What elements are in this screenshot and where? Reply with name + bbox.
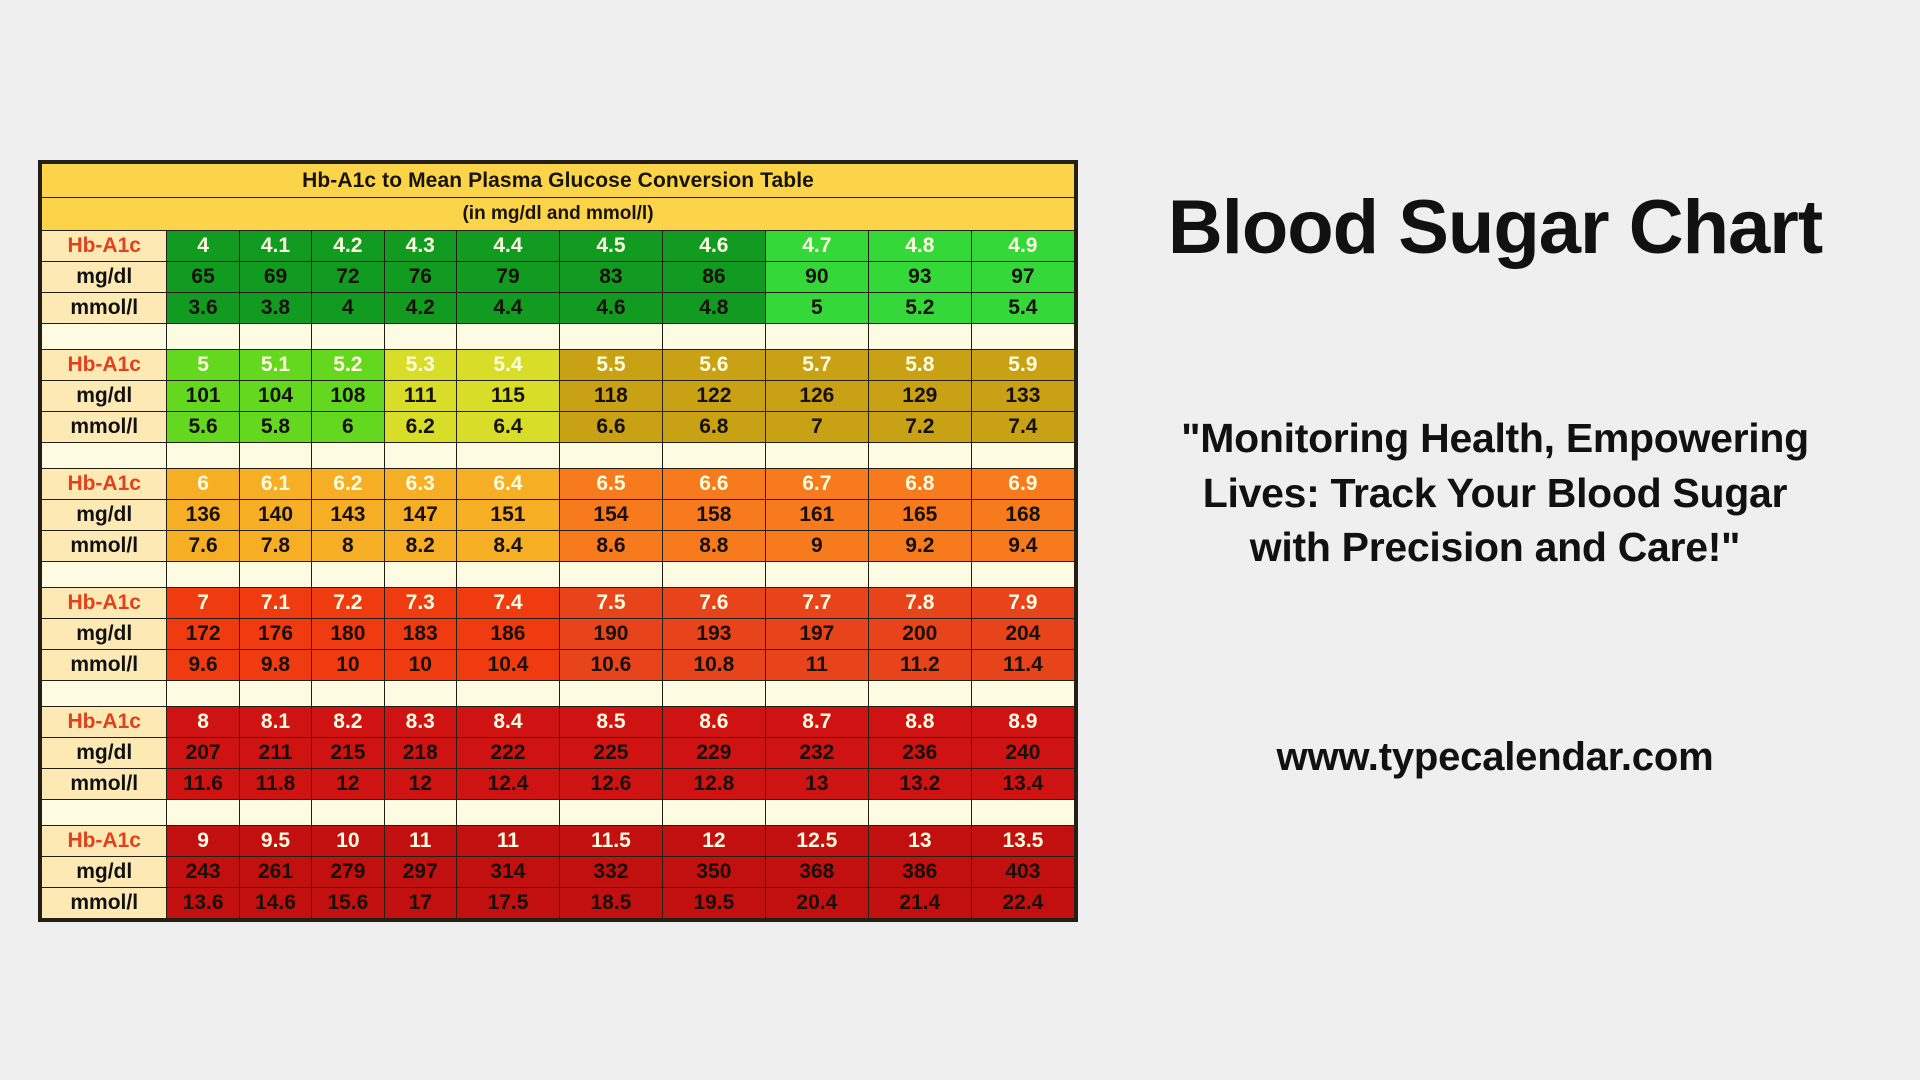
table-subtitle-row: (in mg/dl and mmol/l) xyxy=(42,198,1075,231)
cell-hba1c-b6-c7: 12 xyxy=(662,826,765,857)
spacer-cell xyxy=(868,562,971,588)
cell-hba1c-b1-c3: 4.2 xyxy=(312,231,384,262)
table-spacer-row xyxy=(42,562,1075,588)
cell-mmoll-b5-c9: 13.2 xyxy=(868,769,971,800)
spacer-cell xyxy=(662,562,765,588)
cell-hba1c-b2-c3: 5.2 xyxy=(312,350,384,381)
cell-hba1c-b6-c5: 11 xyxy=(456,826,559,857)
row-label-mgdl: mg/dl xyxy=(42,738,167,769)
cell-hba1c-b5-c10: 8.9 xyxy=(971,707,1074,738)
cell-mgdl-b1-c4: 76 xyxy=(384,262,456,293)
row-label-mmoll: mmol/l xyxy=(42,293,167,324)
cell-hba1c-b1-c6: 4.5 xyxy=(559,231,662,262)
cell-mgdl-b3-c8: 161 xyxy=(765,500,868,531)
cell-mmoll-b1-c4: 4.2 xyxy=(384,293,456,324)
cell-mgdl-b1-c2: 69 xyxy=(239,262,311,293)
cell-mmoll-b2-c10: 7.4 xyxy=(971,412,1074,443)
table-subtitle: (in mg/dl and mmol/l) xyxy=(42,198,1075,231)
row-label-hba1c: Hb-A1c xyxy=(42,588,167,619)
spacer-cell xyxy=(167,681,239,707)
cell-hba1c-b5-c7: 8.6 xyxy=(662,707,765,738)
cell-mgdl-b2-c5: 115 xyxy=(456,381,559,412)
cell-mgdl-b1-c9: 93 xyxy=(868,262,971,293)
cell-hba1c-b3-c3: 6.2 xyxy=(312,469,384,500)
spacer-cell xyxy=(384,324,456,350)
cell-hba1c-b1-c4: 4.3 xyxy=(384,231,456,262)
cell-mgdl-b6-c6: 332 xyxy=(559,857,662,888)
cell-hba1c-b6-c1: 9 xyxy=(167,826,239,857)
spacer-cell xyxy=(765,324,868,350)
cell-mgdl-b1-c7: 86 xyxy=(662,262,765,293)
cell-mmoll-b4-c5: 10.4 xyxy=(456,650,559,681)
spacer-cell xyxy=(456,324,559,350)
cell-hba1c-b3-c10: 6.9 xyxy=(971,469,1074,500)
table-row-mmoll-block5: mmol/l11.611.8121212.412.612.81313.213.4 xyxy=(42,769,1075,800)
cell-mmoll-b2-c3: 6 xyxy=(312,412,384,443)
row-label-hba1c: Hb-A1c xyxy=(42,231,167,262)
spacer-cell xyxy=(384,443,456,469)
cell-mmoll-b1-c7: 4.8 xyxy=(662,293,765,324)
spacer-cell xyxy=(662,800,765,826)
spacer-cell xyxy=(971,681,1074,707)
cell-hba1c-b1-c5: 4.4 xyxy=(456,231,559,262)
cell-mmoll-b2-c6: 6.6 xyxy=(559,412,662,443)
spacer-cell xyxy=(239,681,311,707)
cell-hba1c-b4-c4: 7.3 xyxy=(384,588,456,619)
spacer-cell xyxy=(384,800,456,826)
cell-mmoll-b2-c2: 5.8 xyxy=(239,412,311,443)
cell-mgdl-b5-c9: 236 xyxy=(868,738,971,769)
spacer-cell xyxy=(662,324,765,350)
cell-mgdl-b2-c8: 126 xyxy=(765,381,868,412)
cell-hba1c-b4-c5: 7.4 xyxy=(456,588,559,619)
cell-mgdl-b1-c6: 83 xyxy=(559,262,662,293)
cell-hba1c-b4-c1: 7 xyxy=(167,588,239,619)
cell-mgdl-b6-c10: 403 xyxy=(971,857,1074,888)
cell-hba1c-b1-c8: 4.7 xyxy=(765,231,868,262)
cell-mmoll-b3-c2: 7.8 xyxy=(239,531,311,562)
row-label-mgdl: mg/dl xyxy=(42,500,167,531)
cell-mgdl-b4-c6: 190 xyxy=(559,619,662,650)
cell-mmoll-b5-c10: 13.4 xyxy=(971,769,1074,800)
cell-hba1c-b1-c1: 4 xyxy=(167,231,239,262)
spacer-cell xyxy=(456,800,559,826)
cell-mmoll-b2-c4: 6.2 xyxy=(384,412,456,443)
cell-mgdl-b2-c2: 104 xyxy=(239,381,311,412)
row-label-hba1c: Hb-A1c xyxy=(42,350,167,381)
cell-mmoll-b1-c9: 5.2 xyxy=(868,293,971,324)
cell-mgdl-b5-c4: 218 xyxy=(384,738,456,769)
cell-mgdl-b2-c9: 129 xyxy=(868,381,971,412)
cell-hba1c-b4-c9: 7.8 xyxy=(868,588,971,619)
cell-mmoll-b1-c1: 3.6 xyxy=(167,293,239,324)
cell-mmoll-b4-c7: 10.8 xyxy=(662,650,765,681)
cell-mmoll-b3-c6: 8.6 xyxy=(559,531,662,562)
row-label-mgdl: mg/dl xyxy=(42,619,167,650)
spacer-cell xyxy=(312,443,384,469)
row-label-hba1c: Hb-A1c xyxy=(42,469,167,500)
spacer-cell xyxy=(662,443,765,469)
conversion-table-body: Hb-A1c to Mean Plasma Glucose Conversion… xyxy=(42,164,1075,919)
table-row-mgdl-block3: mg/dl136140143147151154158161165168 xyxy=(42,500,1075,531)
cell-mmoll-b5-c8: 13 xyxy=(765,769,868,800)
spacer-cell xyxy=(167,324,239,350)
cell-hba1c-b3-c4: 6.3 xyxy=(384,469,456,500)
cell-hba1c-b2-c7: 5.6 xyxy=(662,350,765,381)
cell-mmoll-b6-c2: 14.6 xyxy=(239,888,311,919)
spacer-cell xyxy=(239,443,311,469)
table-title-row: Hb-A1c to Mean Plasma Glucose Conversion… xyxy=(42,164,1075,198)
table-title: Hb-A1c to Mean Plasma Glucose Conversion… xyxy=(42,164,1075,198)
cell-hba1c-b3-c7: 6.6 xyxy=(662,469,765,500)
cell-mmoll-b3-c4: 8.2 xyxy=(384,531,456,562)
cell-mgdl-b6-c2: 261 xyxy=(239,857,311,888)
spacer-cell xyxy=(167,800,239,826)
cell-mgdl-b2-c4: 111 xyxy=(384,381,456,412)
table-spacer-row xyxy=(42,324,1075,350)
cell-hba1c-b5-c2: 8.1 xyxy=(239,707,311,738)
cell-mgdl-b6-c8: 368 xyxy=(765,857,868,888)
table-row-mgdl-block4: mg/dl172176180183186190193197200204 xyxy=(42,619,1075,650)
cell-hba1c-b2-c6: 5.5 xyxy=(559,350,662,381)
spacer-cell xyxy=(559,324,662,350)
spacer-cell xyxy=(559,562,662,588)
cell-hba1c-b2-c9: 5.8 xyxy=(868,350,971,381)
cell-hba1c-b2-c4: 5.3 xyxy=(384,350,456,381)
spacer-cell xyxy=(868,324,971,350)
cell-mmoll-b6-c8: 20.4 xyxy=(765,888,868,919)
cell-mmoll-b3-c8: 9 xyxy=(765,531,868,562)
cell-hba1c-b3-c1: 6 xyxy=(167,469,239,500)
cell-mgdl-b4-c2: 176 xyxy=(239,619,311,650)
cell-mgdl-b2-c3: 108 xyxy=(312,381,384,412)
row-label-mgdl: mg/dl xyxy=(42,262,167,293)
cell-hba1c-b3-c9: 6.8 xyxy=(868,469,971,500)
spacer-cell xyxy=(765,443,868,469)
tagline-line-3: with Precision and Care!" xyxy=(1100,520,1890,575)
cell-mmoll-b5-c6: 12.6 xyxy=(559,769,662,800)
tagline-line-2: Lives: Track Your Blood Sugar xyxy=(1100,466,1890,521)
cell-mgdl-b3-c9: 165 xyxy=(868,500,971,531)
cell-mgdl-b2-c7: 122 xyxy=(662,381,765,412)
cell-mgdl-b5-c5: 222 xyxy=(456,738,559,769)
cell-mgdl-b6-c5: 314 xyxy=(456,857,559,888)
tagline-line-1: "Monitoring Health, Empowering xyxy=(1100,411,1890,466)
table-spacer-row xyxy=(42,800,1075,826)
spacer-cell xyxy=(456,681,559,707)
cell-mmoll-b5-c5: 12.4 xyxy=(456,769,559,800)
cell-mmoll-b2-c7: 6.8 xyxy=(662,412,765,443)
spacer-cell xyxy=(312,324,384,350)
cell-hba1c-b2-c1: 5 xyxy=(167,350,239,381)
cell-mmoll-b6-c1: 13.6 xyxy=(167,888,239,919)
cell-mmoll-b6-c7: 19.5 xyxy=(662,888,765,919)
cell-hba1c-b6-c2: 9.5 xyxy=(239,826,311,857)
cell-hba1c-b6-c8: 12.5 xyxy=(765,826,868,857)
cell-mmoll-b1-c8: 5 xyxy=(765,293,868,324)
table-row-mmoll-block1: mmol/l3.63.844.24.44.64.855.25.4 xyxy=(42,293,1075,324)
cell-mgdl-b5-c6: 225 xyxy=(559,738,662,769)
cell-mgdl-b3-c10: 168 xyxy=(971,500,1074,531)
cell-mgdl-b3-c5: 151 xyxy=(456,500,559,531)
table-spacer-row xyxy=(42,443,1075,469)
right-text-panel: Blood Sugar Chart "Monitoring Health, Em… xyxy=(1100,150,1890,780)
table-row-mmoll-block2: mmol/l5.65.866.26.46.66.877.27.4 xyxy=(42,412,1075,443)
table-row-mgdl-block6: mg/dl243261279297314332350368386403 xyxy=(42,857,1075,888)
cell-mgdl-b6-c9: 386 xyxy=(868,857,971,888)
cell-mmoll-b4-c2: 9.8 xyxy=(239,650,311,681)
cell-mgdl-b4-c9: 200 xyxy=(868,619,971,650)
table-row-mmoll-block6: mmol/l13.614.615.61717.518.519.520.421.4… xyxy=(42,888,1075,919)
table-row-hba1c-block2: Hb-A1c55.15.25.35.45.55.65.75.85.9 xyxy=(42,350,1075,381)
page-title: Blood Sugar Chart xyxy=(1100,190,1890,266)
cell-hba1c-b5-c4: 8.3 xyxy=(384,707,456,738)
cell-mmoll-b2-c8: 7 xyxy=(765,412,868,443)
cell-mmoll-b5-c3: 12 xyxy=(312,769,384,800)
spacer-cell xyxy=(384,562,456,588)
cell-mgdl-b5-c7: 229 xyxy=(662,738,765,769)
spacer-cell xyxy=(384,681,456,707)
cell-mmoll-b4-c1: 9.6 xyxy=(167,650,239,681)
row-label-mmoll: mmol/l xyxy=(42,531,167,562)
cell-mmoll-b4-c6: 10.6 xyxy=(559,650,662,681)
website-url: www.typecalendar.com xyxy=(1100,735,1890,780)
cell-hba1c-b5-c8: 8.7 xyxy=(765,707,868,738)
cell-hba1c-b2-c5: 5.4 xyxy=(456,350,559,381)
cell-hba1c-b2-c10: 5.9 xyxy=(971,350,1074,381)
spacer-label-cell xyxy=(42,800,167,826)
row-label-hba1c: Hb-A1c xyxy=(42,707,167,738)
cell-hba1c-b6-c3: 10 xyxy=(312,826,384,857)
spacer-cell xyxy=(868,681,971,707)
row-label-mmoll: mmol/l xyxy=(42,769,167,800)
cell-mmoll-b1-c10: 5.4 xyxy=(971,293,1074,324)
cell-mgdl-b4-c8: 197 xyxy=(765,619,868,650)
cell-hba1c-b2-c2: 5.1 xyxy=(239,350,311,381)
cell-mgdl-b3-c1: 136 xyxy=(167,500,239,531)
cell-mgdl-b4-c1: 172 xyxy=(167,619,239,650)
spacer-cell xyxy=(765,681,868,707)
spacer-cell xyxy=(239,800,311,826)
cell-mmoll-b4-c4: 10 xyxy=(384,650,456,681)
table-row-mgdl-block1: mg/dl65697276798386909397 xyxy=(42,262,1075,293)
spacer-cell xyxy=(868,800,971,826)
cell-hba1c-b3-c6: 6.5 xyxy=(559,469,662,500)
cell-mmoll-b2-c9: 7.2 xyxy=(868,412,971,443)
cell-mgdl-b1-c8: 90 xyxy=(765,262,868,293)
cell-hba1c-b4-c6: 7.5 xyxy=(559,588,662,619)
cell-mmoll-b3-c3: 8 xyxy=(312,531,384,562)
conversion-table-card: Hb-A1c to Mean Plasma Glucose Conversion… xyxy=(38,160,1078,922)
cell-hba1c-b1-c7: 4.6 xyxy=(662,231,765,262)
table-row-mmoll-block4: mmol/l9.69.8101010.410.610.81111.211.4 xyxy=(42,650,1075,681)
cell-mgdl-b3-c3: 143 xyxy=(312,500,384,531)
spacer-label-cell xyxy=(42,562,167,588)
cell-mmoll-b2-c5: 6.4 xyxy=(456,412,559,443)
cell-mgdl-b6-c1: 243 xyxy=(167,857,239,888)
spacer-cell xyxy=(456,443,559,469)
spacer-cell xyxy=(765,800,868,826)
cell-mgdl-b3-c7: 158 xyxy=(662,500,765,531)
cell-mgdl-b1-c3: 72 xyxy=(312,262,384,293)
cell-mmoll-b5-c7: 12.8 xyxy=(662,769,765,800)
cell-hba1c-b5-c9: 8.8 xyxy=(868,707,971,738)
page-root: Hb-A1c to Mean Plasma Glucose Conversion… xyxy=(0,0,1920,1080)
cell-hba1c-b3-c2: 6.1 xyxy=(239,469,311,500)
spacer-label-cell xyxy=(42,443,167,469)
row-label-mgdl: mg/dl xyxy=(42,381,167,412)
cell-mgdl-b6-c4: 297 xyxy=(384,857,456,888)
spacer-cell xyxy=(456,562,559,588)
cell-mgdl-b2-c10: 133 xyxy=(971,381,1074,412)
cell-mgdl-b5-c1: 207 xyxy=(167,738,239,769)
cell-hba1c-b1-c9: 4.8 xyxy=(868,231,971,262)
cell-mmoll-b3-c10: 9.4 xyxy=(971,531,1074,562)
cell-mgdl-b3-c4: 147 xyxy=(384,500,456,531)
cell-mgdl-b1-c5: 79 xyxy=(456,262,559,293)
spacer-label-cell xyxy=(42,681,167,707)
cell-mgdl-b5-c10: 240 xyxy=(971,738,1074,769)
cell-mgdl-b4-c5: 186 xyxy=(456,619,559,650)
cell-mmoll-b1-c5: 4.4 xyxy=(456,293,559,324)
cell-mmoll-b1-c3: 4 xyxy=(312,293,384,324)
cell-mgdl-b3-c2: 140 xyxy=(239,500,311,531)
cell-hba1c-b6-c4: 11 xyxy=(384,826,456,857)
cell-mgdl-b1-c10: 97 xyxy=(971,262,1074,293)
cell-mgdl-b1-c1: 65 xyxy=(167,262,239,293)
table-row-mgdl-block5: mg/dl207211215218222225229232236240 xyxy=(42,738,1075,769)
spacer-cell xyxy=(971,562,1074,588)
cell-mmoll-b5-c1: 11.6 xyxy=(167,769,239,800)
cell-hba1c-b4-c3: 7.2 xyxy=(312,588,384,619)
cell-hba1c-b3-c5: 6.4 xyxy=(456,469,559,500)
cell-hba1c-b4-c10: 7.9 xyxy=(971,588,1074,619)
spacer-cell xyxy=(312,800,384,826)
cell-mgdl-b5-c2: 211 xyxy=(239,738,311,769)
spacer-cell xyxy=(239,324,311,350)
spacer-cell xyxy=(167,443,239,469)
cell-mmoll-b3-c5: 8.4 xyxy=(456,531,559,562)
cell-hba1c-b4-c2: 7.1 xyxy=(239,588,311,619)
cell-mmoll-b6-c5: 17.5 xyxy=(456,888,559,919)
table-row-mgdl-block2: mg/dl101104108111115118122126129133 xyxy=(42,381,1075,412)
cell-hba1c-b2-c8: 5.7 xyxy=(765,350,868,381)
spacer-label-cell xyxy=(42,324,167,350)
cell-mmoll-b3-c7: 8.8 xyxy=(662,531,765,562)
cell-mgdl-b6-c3: 279 xyxy=(312,857,384,888)
row-label-mgdl: mg/dl xyxy=(42,857,167,888)
cell-mmoll-b1-c6: 4.6 xyxy=(559,293,662,324)
cell-mgdl-b6-c7: 350 xyxy=(662,857,765,888)
cell-mmoll-b4-c3: 10 xyxy=(312,650,384,681)
spacer-cell xyxy=(559,800,662,826)
spacer-cell xyxy=(559,681,662,707)
table-row-hba1c-block1: Hb-A1c44.14.24.34.44.54.64.74.84.9 xyxy=(42,231,1075,262)
cell-mgdl-b4-c3: 180 xyxy=(312,619,384,650)
table-row-hba1c-block4: Hb-A1c77.17.27.37.47.57.67.77.87.9 xyxy=(42,588,1075,619)
row-label-hba1c: Hb-A1c xyxy=(42,826,167,857)
cell-hba1c-b6-c10: 13.5 xyxy=(971,826,1074,857)
cell-hba1c-b3-c8: 6.7 xyxy=(765,469,868,500)
spacer-cell xyxy=(239,562,311,588)
cell-mmoll-b2-c1: 5.6 xyxy=(167,412,239,443)
cell-mmoll-b5-c4: 12 xyxy=(384,769,456,800)
row-label-mmoll: mmol/l xyxy=(42,412,167,443)
spacer-cell xyxy=(971,443,1074,469)
cell-mmoll-b6-c4: 17 xyxy=(384,888,456,919)
cell-hba1c-b5-c1: 8 xyxy=(167,707,239,738)
spacer-cell xyxy=(971,324,1074,350)
cell-mmoll-b4-c8: 11 xyxy=(765,650,868,681)
cell-hba1c-b1-c10: 4.9 xyxy=(971,231,1074,262)
cell-mgdl-b4-c10: 204 xyxy=(971,619,1074,650)
spacer-cell xyxy=(312,681,384,707)
cell-mmoll-b6-c6: 18.5 xyxy=(559,888,662,919)
cell-hba1c-b5-c6: 8.5 xyxy=(559,707,662,738)
spacer-cell xyxy=(559,443,662,469)
spacer-cell xyxy=(765,562,868,588)
cell-mmoll-b6-c9: 21.4 xyxy=(868,888,971,919)
cell-mgdl-b2-c1: 101 xyxy=(167,381,239,412)
cell-mmoll-b3-c9: 9.2 xyxy=(868,531,971,562)
spacer-cell xyxy=(868,443,971,469)
cell-mmoll-b6-c3: 15.6 xyxy=(312,888,384,919)
conversion-table: Hb-A1c to Mean Plasma Glucose Conversion… xyxy=(41,163,1075,919)
cell-mgdl-b4-c7: 193 xyxy=(662,619,765,650)
cell-mgdl-b4-c4: 183 xyxy=(384,619,456,650)
cell-mgdl-b5-c8: 232 xyxy=(765,738,868,769)
cell-hba1c-b6-c9: 13 xyxy=(868,826,971,857)
cell-mgdl-b3-c6: 154 xyxy=(559,500,662,531)
table-row-hba1c-block3: Hb-A1c66.16.26.36.46.56.66.76.86.9 xyxy=(42,469,1075,500)
cell-mmoll-b3-c1: 7.6 xyxy=(167,531,239,562)
cell-mgdl-b5-c3: 215 xyxy=(312,738,384,769)
cell-mmoll-b5-c2: 11.8 xyxy=(239,769,311,800)
cell-hba1c-b1-c2: 4.1 xyxy=(239,231,311,262)
cell-mmoll-b1-c2: 3.8 xyxy=(239,293,311,324)
tagline-block: "Monitoring Health, Empowering Lives: Tr… xyxy=(1100,411,1890,575)
cell-mmoll-b4-c9: 11.2 xyxy=(868,650,971,681)
table-spacer-row xyxy=(42,681,1075,707)
spacer-cell xyxy=(662,681,765,707)
cell-mgdl-b2-c6: 118 xyxy=(559,381,662,412)
table-row-mmoll-block3: mmol/l7.67.888.28.48.68.899.29.4 xyxy=(42,531,1075,562)
cell-hba1c-b6-c6: 11.5 xyxy=(559,826,662,857)
table-row-hba1c-block6: Hb-A1c99.510111111.51212.51313.5 xyxy=(42,826,1075,857)
cell-hba1c-b5-c3: 8.2 xyxy=(312,707,384,738)
cell-hba1c-b4-c8: 7.7 xyxy=(765,588,868,619)
cell-hba1c-b4-c7: 7.6 xyxy=(662,588,765,619)
spacer-cell xyxy=(312,562,384,588)
cell-mmoll-b6-c10: 22.4 xyxy=(971,888,1074,919)
spacer-cell xyxy=(971,800,1074,826)
cell-hba1c-b5-c5: 8.4 xyxy=(456,707,559,738)
spacer-cell xyxy=(167,562,239,588)
table-row-hba1c-block5: Hb-A1c88.18.28.38.48.58.68.78.88.9 xyxy=(42,707,1075,738)
row-label-mmoll: mmol/l xyxy=(42,888,167,919)
cell-mmoll-b4-c10: 11.4 xyxy=(971,650,1074,681)
row-label-mmoll: mmol/l xyxy=(42,650,167,681)
